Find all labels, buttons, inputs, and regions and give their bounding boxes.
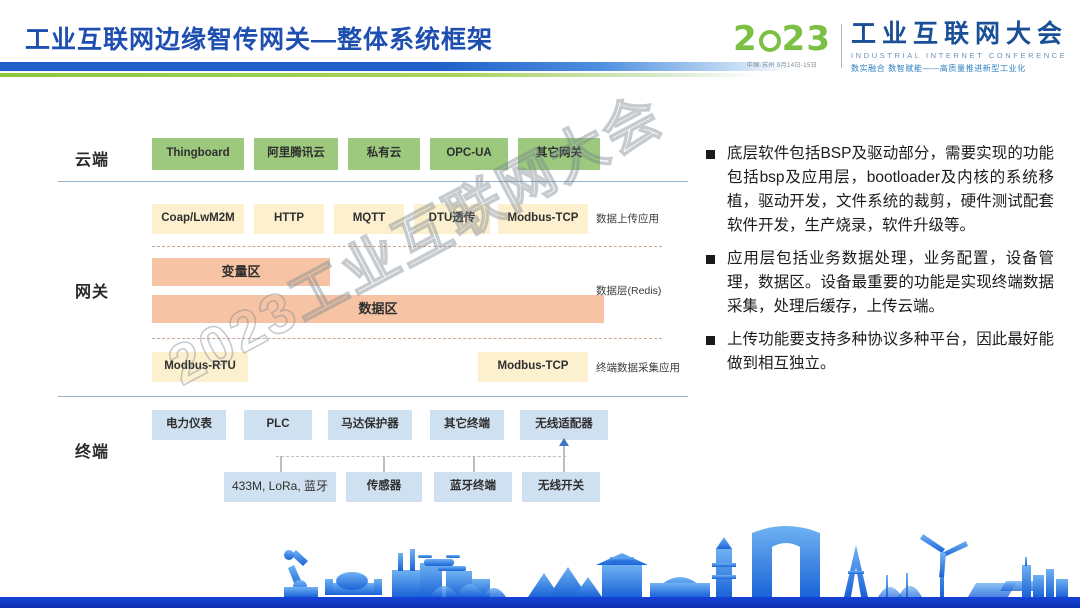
logo-ring-icon (759, 30, 781, 52)
header-rule-blue (0, 62, 790, 71)
protocol-box-0[interactable]: Coap/LwM2M (152, 204, 244, 234)
wireless-stem-3 (563, 442, 565, 472)
wireless-stem-1 (383, 456, 385, 472)
logo-year-digit-2: 2 (782, 19, 807, 59)
terminal-box-0[interactable]: 电力仪表 (152, 410, 226, 440)
note-upload-application: 数据上传应用 (596, 211, 659, 226)
logo-divider (841, 24, 842, 68)
logo-date-line: 中国·苏州 9月14日-15日 (733, 60, 831, 69)
bullet-item: 应用层包括业务数据处理，业务配置，设备管理，数据区。设备最重要的功能是实现终端数… (706, 247, 1054, 319)
note-terminal-collect-application: 终端数据采集应用 (596, 360, 680, 375)
logo-year-block: 223 中国·苏州 9月14日-15日 (733, 22, 841, 69)
bullet-item: 上传功能要支持多种协议多种平台，因此最好能做到相互独立。 (706, 328, 1054, 376)
layer-label-gateway: 网关 (75, 278, 109, 302)
wireless-box-0[interactable]: 433M, LoRa, 蓝牙 (224, 472, 336, 502)
logo-year-digit-3: 3 (806, 19, 831, 59)
cloud-box-4[interactable]: 其它网关 (518, 138, 600, 170)
protocol-box-3[interactable]: DTU透传 (414, 204, 490, 234)
wireless-stem-0 (280, 456, 282, 472)
terminal-box-3[interactable]: 其它终端 (430, 410, 504, 440)
bullet-square-icon (706, 255, 715, 264)
conference-logo: 223 中国·苏州 9月14日-15日 工业互联网大会 INDUSTRIAL I… (733, 22, 1068, 74)
bullet-text: 应用层包括业务数据处理，业务配置，设备管理，数据区。设备最重要的功能是实现终端数… (727, 247, 1054, 319)
logo-year: 223 (733, 22, 831, 56)
logo-year-digit-1: 2 (733, 19, 758, 59)
protocol-box-2[interactable]: MQTT (334, 204, 404, 234)
terminal-box-2[interactable]: 马达保护器 (328, 410, 412, 440)
layer-label-terminal: 终端 (75, 438, 109, 462)
bullet-square-icon (706, 336, 715, 345)
protocol-box-4[interactable]: Modbus-TCP (498, 204, 588, 234)
note-data-layer-redis: 数据层(Redis) (596, 283, 661, 298)
bullet-list: 底层软件包括BSP及驱动部分，需要实现的功能包括bsp及应用层，bootload… (706, 142, 1054, 385)
wireless-box-2[interactable]: 蓝牙终端 (434, 472, 512, 502)
separator-gateway-terminal (58, 396, 688, 397)
bullet-square-icon (706, 150, 715, 159)
dash-separator-lower (152, 338, 662, 339)
separator-cloud-gateway (58, 181, 688, 182)
logo-name-block: 工业互联网大会 INDUSTRIAL INTERNET CONFERENCE 数… (851, 22, 1068, 74)
logo-name-en: INDUSTRIAL INTERNET CONFERENCE (851, 51, 1068, 60)
wireless-box-1[interactable]: 传感器 (346, 472, 422, 502)
terminal-box-1[interactable]: PLC (244, 410, 312, 440)
terminal-box-4[interactable]: 无线适配器 (520, 410, 608, 440)
cloud-box-0[interactable]: Thingboard (152, 138, 244, 170)
bullet-item: 底层软件包括BSP及驱动部分，需要实现的功能包括bsp及应用层，bootload… (706, 142, 1054, 238)
logo-tagline: 数实融合 数智赋能——高质量推进新型工业化 (851, 63, 1068, 74)
bullet-text: 上传功能要支持多种协议多种平台，因此最好能做到相互独立。 (727, 328, 1054, 376)
protocol-box-1[interactable]: HTTP (254, 204, 324, 234)
skyline-shapes (284, 526, 1068, 597)
footer-skyline (0, 513, 1080, 608)
header-rule-green (0, 73, 760, 77)
wireless-box-3[interactable]: 无线开关 (522, 472, 600, 502)
system-architecture-diagram: 云端 网关 终端 Thingboard 阿里腾讯云 私有云 OPC-UA 其它网… (58, 120, 688, 495)
footer-band (0, 597, 1080, 608)
logo-name-cn: 工业互联网大会 (851, 22, 1068, 47)
collect-box-modbus-tcp[interactable]: Modbus-TCP (478, 352, 588, 382)
cloud-box-2[interactable]: 私有云 (348, 138, 420, 170)
wireless-arrow-up-icon (559, 438, 569, 446)
page-title: 工业互联网边缘智传网关—整体系统框架 (25, 20, 493, 56)
cloud-box-3[interactable]: OPC-UA (430, 138, 508, 170)
dash-separator-upper (152, 246, 662, 247)
slide-canvas: 工业互联网边缘智传网关—整体系统框架 223 中国·苏州 9月14日-15日 工… (0, 0, 1080, 608)
wireless-stem-2 (473, 456, 475, 472)
bullet-text: 底层软件包括BSP及驱动部分，需要实现的功能包括bsp及应用层，bootload… (727, 142, 1054, 238)
data-box-variable[interactable]: 变量区 (152, 258, 330, 286)
cloud-box-1[interactable]: 阿里腾讯云 (254, 138, 338, 170)
skyline-svg (0, 513, 1080, 608)
wireless-bus-line (276, 456, 566, 457)
collect-box-modbus-rtu[interactable]: Modbus-RTU (152, 352, 248, 382)
data-box-data[interactable]: 数据区 (152, 295, 604, 323)
layer-label-cloud: 云端 (75, 146, 109, 170)
